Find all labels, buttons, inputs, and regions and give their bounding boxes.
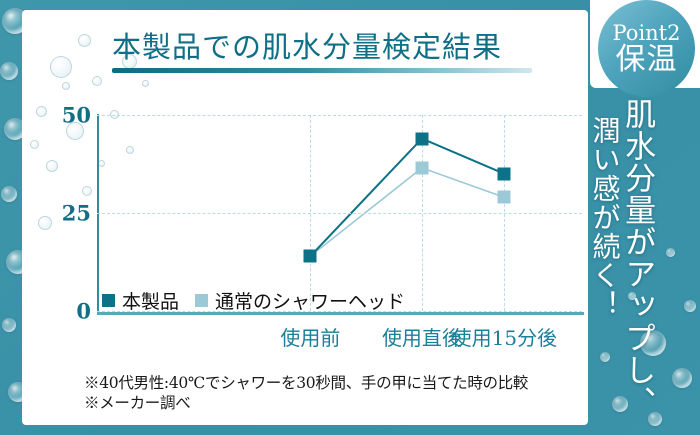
droplet-icon <box>1 186 17 202</box>
y-axis-ticks: 02550 <box>48 115 91 311</box>
legend-swatch-icon <box>102 294 115 307</box>
y-tick-label: 0 <box>76 299 91 324</box>
data-point-marker <box>498 191 511 204</box>
chart-card: 本製品での肌水分量検定結果 02550 使用前使用直後使用15分後 本製品通常の… <box>22 10 588 425</box>
bubble-icon <box>92 76 102 86</box>
gridline-horizontal <box>97 115 582 116</box>
bubble-icon <box>30 140 39 149</box>
gridline-vertical <box>504 115 505 311</box>
title-underline <box>112 68 532 73</box>
catch-copy-main: 肌水分量がアップし、 <box>621 98 653 428</box>
bubble-icon <box>142 80 149 87</box>
vertical-catch-copy: 肌水分量がアップし、 潤い感が続く！ <box>590 98 698 428</box>
plot-area <box>97 115 582 311</box>
droplet-icon <box>2 318 16 332</box>
line-series <box>310 139 504 257</box>
point-badge: Point2 保温 <box>598 0 695 97</box>
legend-label: 本製品 <box>122 287 179 314</box>
data-point-marker <box>304 250 317 263</box>
legend-label: 通常のシャワーヘッド <box>215 287 405 314</box>
gridline-vertical <box>310 115 311 311</box>
bubble-icon <box>62 82 70 90</box>
data-point-marker <box>498 167 511 180</box>
x-tick-label: 使用15分後 <box>452 322 557 351</box>
legend-item[interactable]: 通常のシャワーヘッド <box>195 287 405 314</box>
footnotes: ※40代男性:40℃でシャワーを30秒間、手の甲に当てた時の比較 ※メーカー調べ <box>84 374 584 414</box>
title-block: 本製品での肌水分量検定結果 <box>112 32 542 73</box>
footnote-line-2: ※メーカー調べ <box>84 394 584 414</box>
bubble-icon <box>36 106 47 117</box>
data-point-marker <box>415 132 428 145</box>
footnote-line-1: ※40代男性:40℃でシャワーを30秒間、手の甲に当てた時の比較 <box>84 374 584 394</box>
bubble-icon <box>50 56 72 78</box>
x-axis-labels: 使用前使用直後使用15分後 <box>97 322 584 352</box>
x-tick-label: 使用直後 <box>382 322 462 351</box>
data-point-marker <box>415 161 428 174</box>
legend-swatch-icon <box>195 294 208 307</box>
y-tick-label: 25 <box>62 201 91 226</box>
badge-main-label: 保温 <box>616 45 678 75</box>
gridline-horizontal <box>97 213 582 214</box>
droplet-icon <box>0 62 18 80</box>
chart-legend: 本製品通常のシャワーヘッド <box>102 287 405 314</box>
bubble-icon <box>78 34 91 47</box>
y-tick-label: 50 <box>62 103 91 128</box>
badge-point-label: Point2 <box>613 23 681 44</box>
legend-item[interactable]: 本製品 <box>102 287 179 314</box>
page-title: 本製品での肌水分量検定結果 <box>112 32 542 64</box>
catch-copy-sub: 潤い感が続く！ <box>590 116 619 428</box>
x-tick-label: 使用前 <box>280 322 340 351</box>
